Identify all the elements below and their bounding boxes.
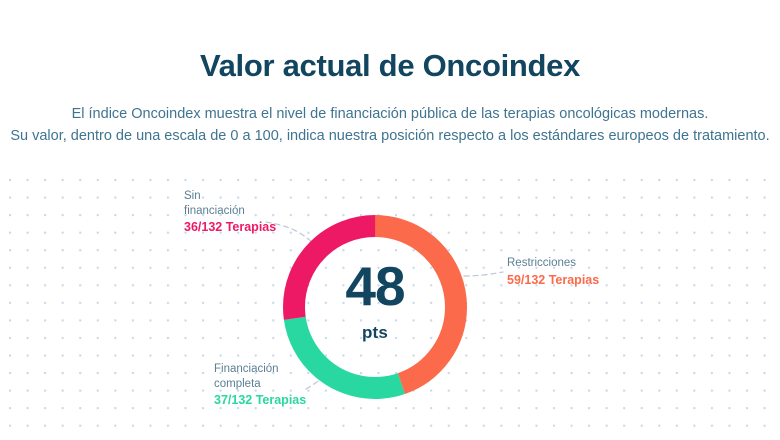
gauge-value: 48 bbox=[283, 259, 467, 314]
callout-sin-financiacion-name-line2: financiación bbox=[184, 204, 276, 219]
callout-financiacion-completa-name-line1: Financiación bbox=[214, 362, 306, 377]
donut-gauge: 48 pts bbox=[283, 215, 467, 399]
subtitle-line-1: El índice Oncoindex muestra el nivel de … bbox=[0, 103, 780, 125]
subtitle-line-2: Su valor, dentro de una escala de 0 a 10… bbox=[0, 125, 780, 147]
callout-financiacion-completa[interactable]: Financiación completa 37/132 Terapias bbox=[214, 362, 306, 408]
connector-restricciones bbox=[464, 272, 503, 276]
page-title: Valor actual de Oncoindex bbox=[0, 48, 780, 84]
callout-financiacion-completa-name-line2: completa bbox=[214, 377, 306, 392]
callout-financiacion-completa-value: 37/132 Terapias bbox=[214, 393, 306, 408]
callout-sin-financiacion-name-line1: Sin bbox=[184, 189, 276, 204]
header: Valor actual de Oncoindex El índice Onco… bbox=[0, 0, 780, 170]
gauge-unit: pts bbox=[283, 324, 467, 341]
chart-area: 48 pts Sin financiación 36/132 Terapias … bbox=[0, 170, 780, 440]
oncoindex-gauge-page: Valor actual de Oncoindex El índice Onco… bbox=[0, 0, 780, 440]
callout-sin-financiacion[interactable]: Sin financiación 36/132 Terapias bbox=[184, 189, 276, 235]
callout-sin-financiacion-value: 36/132 Terapias bbox=[184, 220, 276, 235]
callout-restricciones[interactable]: Restricciones 59/132 Terapias bbox=[507, 256, 599, 287]
callout-restricciones-name-line1: Restricciones bbox=[507, 256, 599, 271]
callout-restricciones-value: 59/132 Terapias bbox=[507, 273, 599, 288]
